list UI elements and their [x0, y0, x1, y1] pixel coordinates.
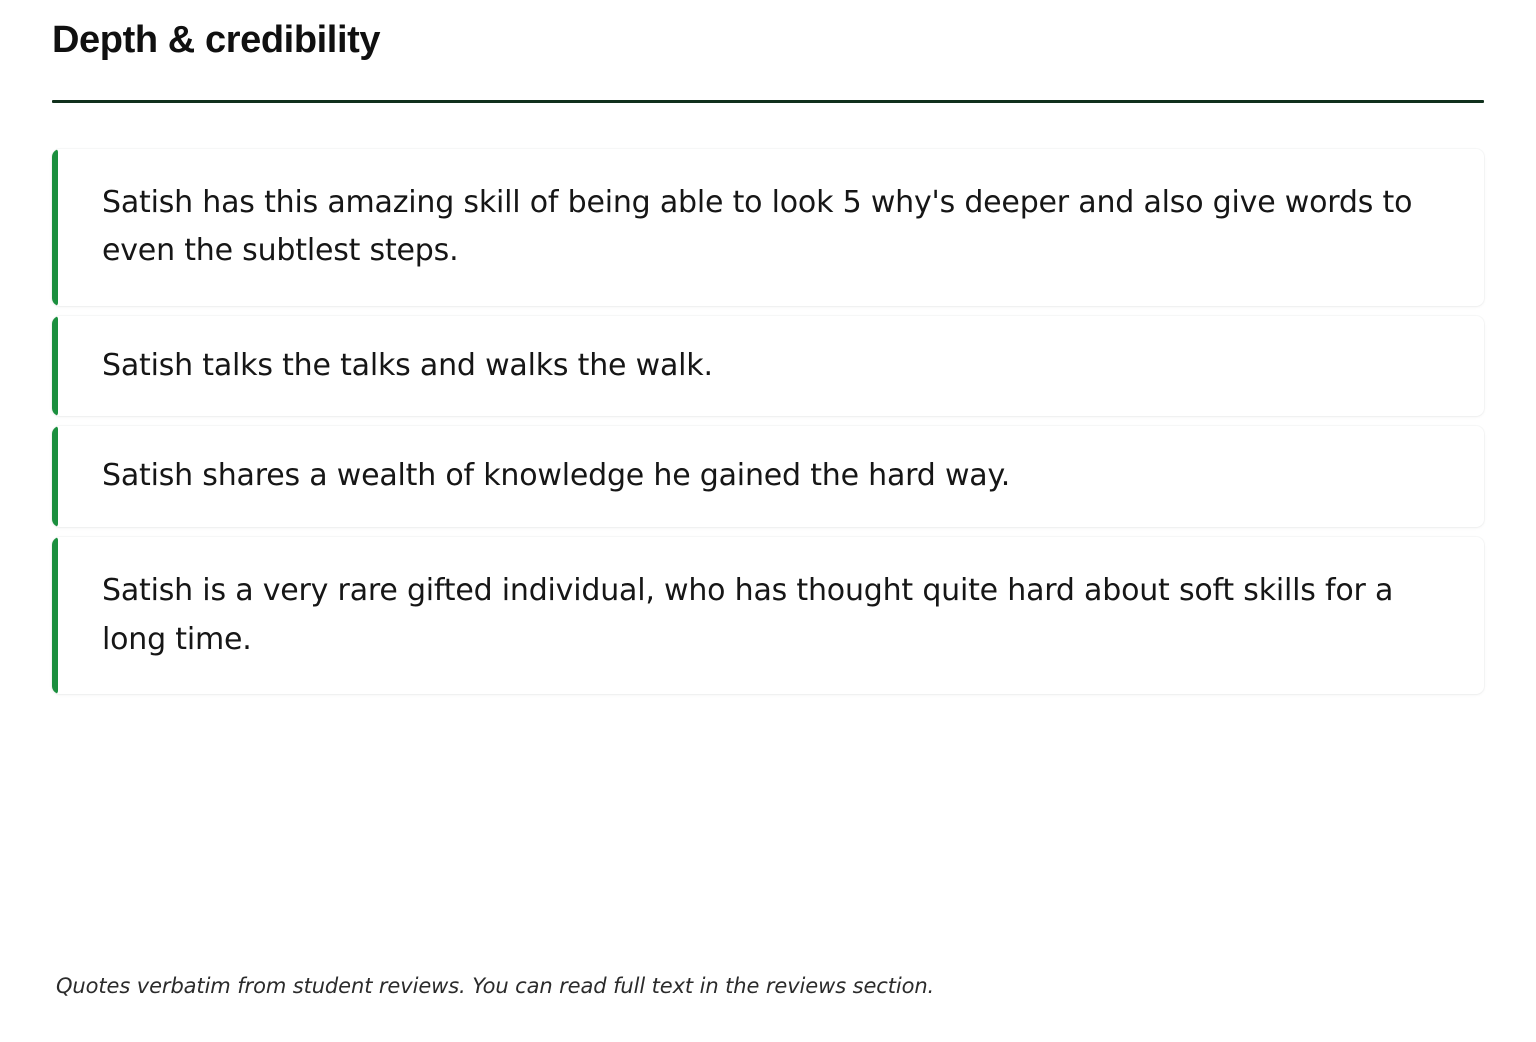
quote-text: Satish talks the talks and walks the wal…	[102, 342, 1448, 391]
quote-body: Satish is a very rare gifted individual,…	[58, 537, 1484, 694]
depth-credibility-section: Depth & credibility Satish has this amaz…	[0, 0, 1536, 1042]
title-divider	[52, 100, 1484, 103]
list-item: Satish is a very rare gifted individual,…	[52, 537, 1484, 694]
quote-text: Satish is a very rare gifted individual,…	[102, 567, 1448, 664]
quote-body: Satish talks the talks and walks the wal…	[58, 316, 1484, 417]
quote-text: Satish shares a wealth of knowledge he g…	[102, 452, 1448, 501]
page-title: Depth & credibility	[52, 0, 1484, 64]
footnote: Quotes verbatim from student reviews. Yo…	[56, 972, 1484, 1000]
list-item: Satish shares a wealth of knowledge he g…	[52, 426, 1484, 527]
quote-body: Satish shares a wealth of knowledge he g…	[58, 426, 1484, 527]
quote-text: Satish has this amazing skill of being a…	[102, 179, 1448, 276]
quote-list: Satish has this amazing skill of being a…	[52, 149, 1484, 695]
list-item: Satish talks the talks and walks the wal…	[52, 316, 1484, 417]
quote-body: Satish has this amazing skill of being a…	[58, 149, 1484, 306]
list-item: Satish has this amazing skill of being a…	[52, 149, 1484, 306]
